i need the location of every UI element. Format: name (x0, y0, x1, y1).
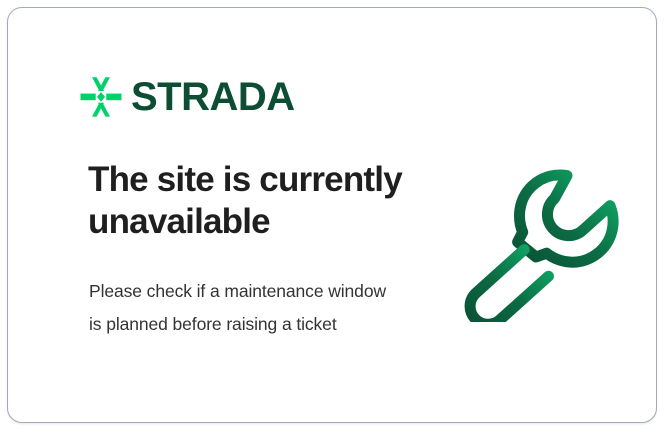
brand-lockup: STRADA (80, 76, 295, 118)
strada-asterisk-icon (80, 76, 122, 118)
status-card: STRADA The site is currently unavailable… (7, 7, 657, 423)
error-page: STRADA The site is currently unavailable… (0, 0, 666, 436)
page-title: The site is currently unavailable (88, 159, 418, 243)
wrench-icon (460, 160, 630, 322)
brand-wordmark: STRADA (131, 77, 295, 117)
page-description: Please check if a maintenance window is … (89, 275, 399, 341)
